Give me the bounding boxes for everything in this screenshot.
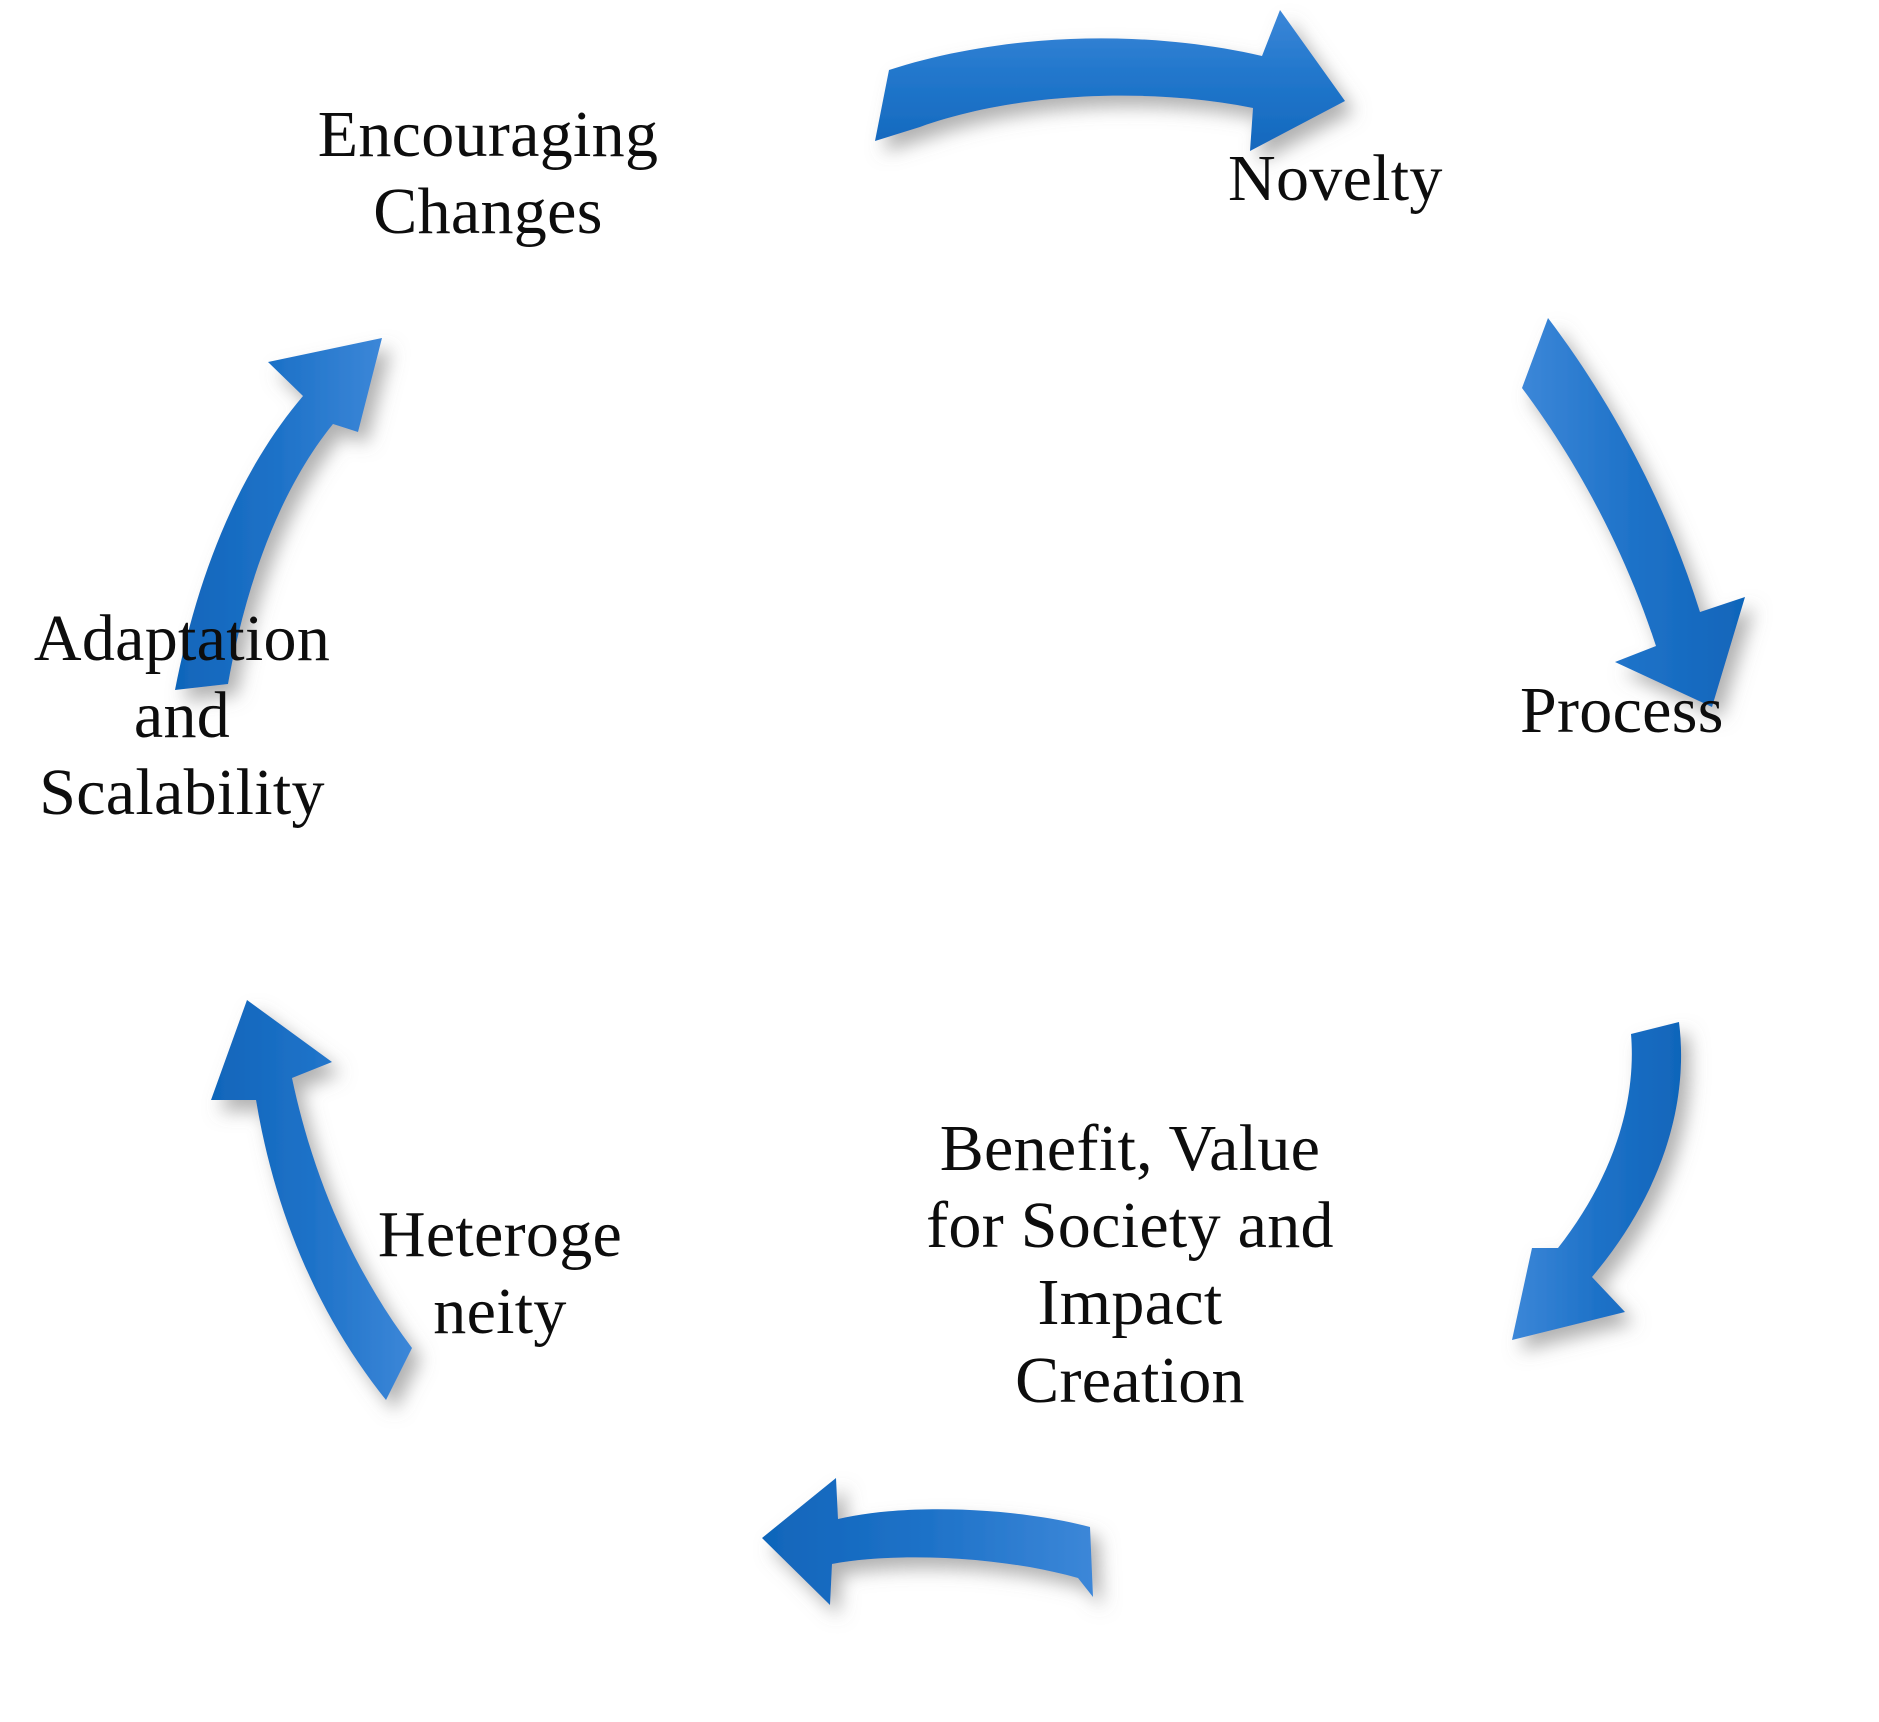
cycle-node-adaptation-scalability: Adaptation and Scalability (0, 600, 372, 832)
cycle-arrows-svg (0, 0, 1879, 1722)
arrow-process-to-benefit-icon (1512, 1022, 1681, 1340)
arrow-novelty-to-process-icon (1522, 318, 1745, 707)
cycle-node-benefit-value: Benefit, Value for Society and Impact Cr… (880, 1110, 1380, 1419)
cycle-node-novelty: Novelty (1228, 140, 1648, 217)
arrow-benefit-to-heterogeneity-icon (762, 1478, 1093, 1605)
cycle-node-heterogeneity: Heteroge neity (330, 1196, 670, 1350)
cycle-node-process: Process (1520, 672, 1879, 749)
arrow-encouraging-to-novelty-icon (875, 10, 1345, 151)
diagram-canvas: Encouraging Changes Novelty Process Bene… (0, 0, 1879, 1722)
cycle-node-encouraging-changes: Encouraging Changes (268, 96, 708, 250)
